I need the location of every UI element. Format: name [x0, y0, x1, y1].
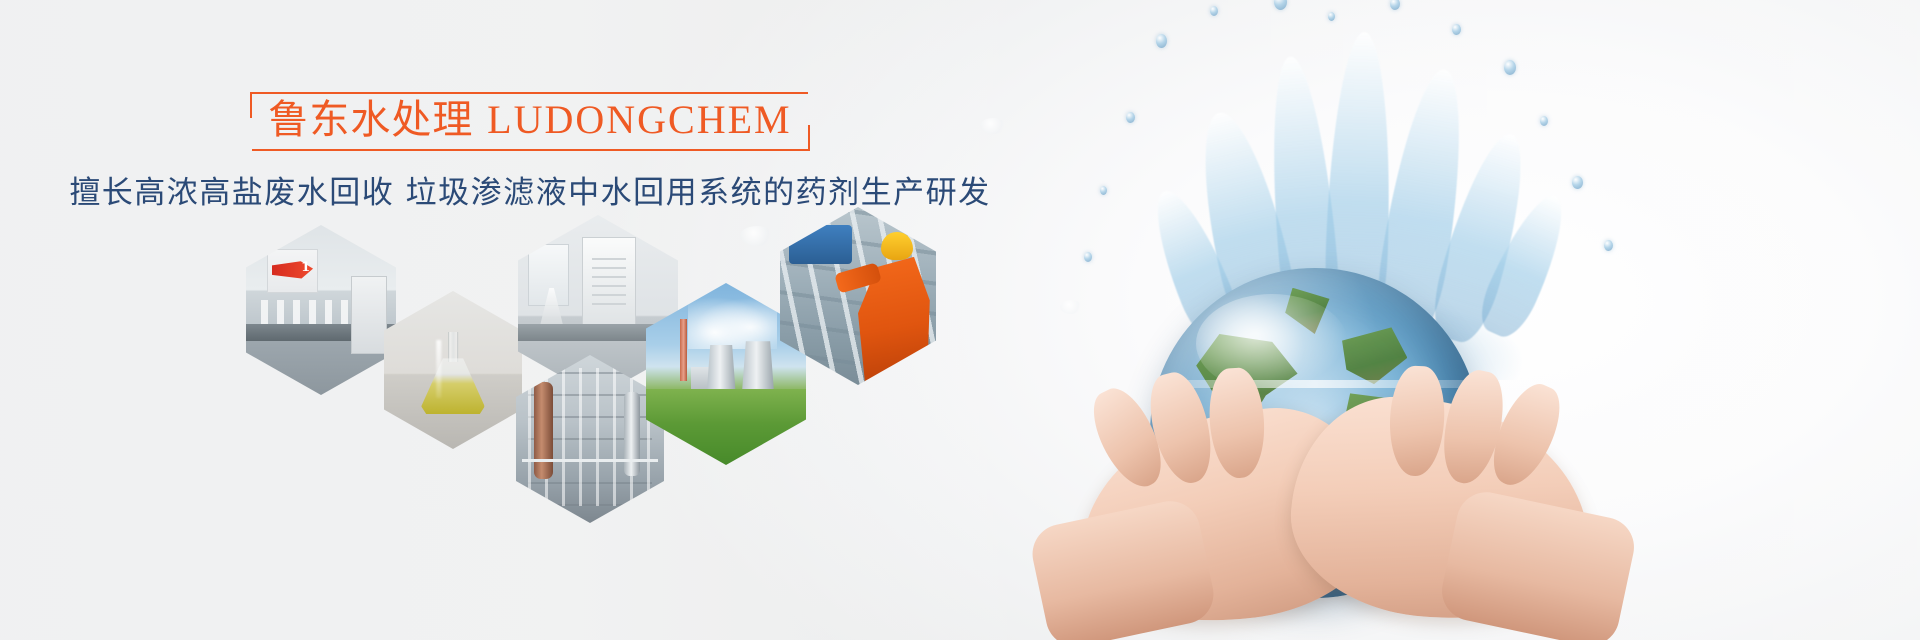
water-globe-artwork [1020, 0, 1920, 640]
banner-text-block: 鲁东水处理 LUDONGCHEM 擅长高浓高盐废水回收 垃圾渗滤液中水回用系统的… [0, 92, 1060, 212]
water-droplet [1100, 186, 1107, 195]
corner-bracket-bottom-right-icon [788, 125, 810, 151]
water-droplet [1452, 24, 1461, 35]
page-title: 鲁东水处理 LUDONGCHEM [268, 98, 791, 143]
left-wrist [1027, 496, 1219, 640]
title-en: LUDONGCHEM [487, 97, 791, 142]
photo-flask-liquid [384, 291, 522, 449]
title-rule-bottom [252, 149, 791, 151]
title-rule-top [268, 92, 807, 94]
water-droplet [1084, 252, 1092, 262]
water-droplet [1604, 240, 1613, 251]
water-droplet [1572, 176, 1583, 189]
water-droplet [1504, 60, 1516, 75]
hex-tile-piping-plant[interactable]: 工业管道装置 [516, 355, 664, 523]
photo-piping-plant [516, 355, 664, 523]
hero-banner: 鲁东水处理 LUDONGCHEM 擅长高浓高盐废水回收 垃圾渗滤液中水回用系统的… [0, 0, 1920, 640]
right-wrist [1436, 487, 1639, 640]
banner-subtitle: 擅长高浓高盐废水回收 垃圾渗滤液中水回用系统的药剂生产研发 [0, 167, 1060, 212]
hexagon-photo-cluster: 1 实验室操作台 锥形瓶药剂样品 [246, 225, 966, 525]
water-droplet [1390, 0, 1400, 10]
water-droplet [1540, 116, 1548, 126]
water-droplet [1126, 112, 1135, 123]
hands-holding-globe [1068, 372, 1588, 634]
splash-sheet [1472, 186, 1579, 343]
water-droplet [1328, 12, 1335, 21]
water-droplet [1210, 6, 1218, 16]
water-droplet [1156, 34, 1167, 48]
water-droplet [1274, 0, 1287, 10]
hex-tile-flask-liquid[interactable]: 锥形瓶药剂样品 [384, 291, 522, 449]
hex-tile-lab-room[interactable]: 1 实验室操作台 [246, 225, 396, 395]
photo-lab-room: 1 [246, 225, 396, 395]
corner-bracket-top-left-icon [250, 92, 272, 118]
brand-title-frame: 鲁东水处理 LUDONGCHEM [250, 92, 809, 151]
title-cn: 鲁东水处理 [268, 97, 473, 143]
